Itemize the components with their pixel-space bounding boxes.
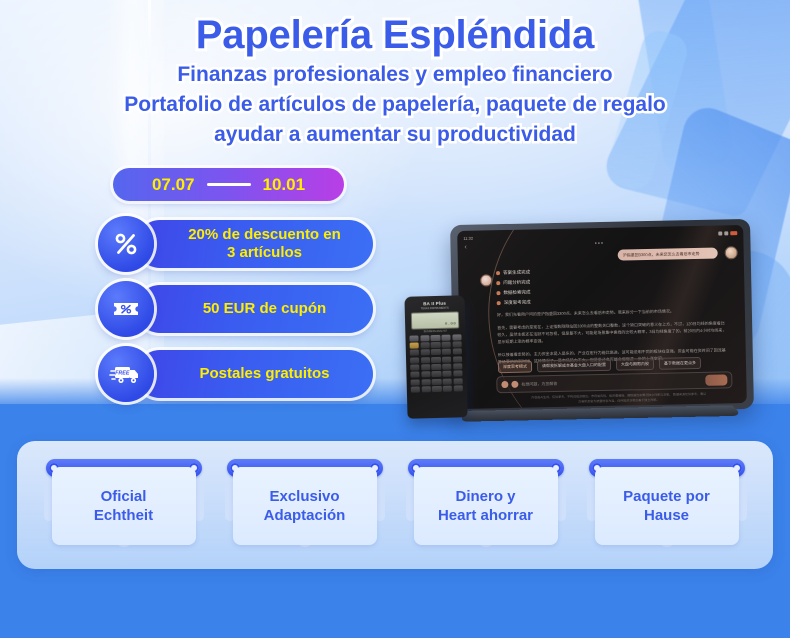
step-dot-icon — [497, 301, 501, 305]
percent-circle-icon — [98, 216, 154, 272]
promo-pill: 50 EUR de cupón — [136, 285, 373, 333]
calc-key[interactable] — [420, 349, 429, 355]
calculator-sub-label: BUSINESS ANALYST — [409, 329, 461, 333]
calc-key[interactable] — [453, 356, 462, 362]
step-dot-icon — [496, 281, 500, 285]
status-icons — [718, 231, 737, 235]
promo-banner: Papelería Espléndida Finanzas profesiona… — [0, 0, 790, 638]
calc-key[interactable] — [411, 379, 420, 385]
step-label: 数据检索完成 — [503, 289, 530, 296]
calc-key[interactable] — [442, 349, 451, 355]
calc-key[interactable] — [410, 372, 419, 378]
feature-label: Dinero y Heart ahorrar — [438, 487, 533, 525]
thread-step: 数据检索完成 — [496, 285, 726, 296]
user-message-bubble: 沪指重回3300点，未来您怎么去看后市走势 — [618, 248, 718, 261]
coupon-ticket-icon — [98, 281, 154, 337]
chat-input-placeholder: 有想问题，为您解答 — [521, 377, 702, 387]
calc-key[interactable] — [421, 372, 430, 378]
wifi-icon — [718, 231, 722, 235]
calc-key[interactable] — [431, 342, 440, 348]
date-separator-dash — [207, 183, 251, 186]
calc-key[interactable] — [442, 364, 451, 370]
back-chevron-icon[interactable]: ‹ — [464, 244, 466, 251]
card-body: Oficial Echtheit — [52, 467, 196, 545]
calc-key-second[interactable] — [410, 342, 419, 348]
calculator-display-value: 0.00 — [445, 322, 456, 326]
date-start: 07.07 — [152, 175, 195, 195]
calculator-keypad[interactable] — [409, 334, 462, 393]
send-button[interactable] — [705, 374, 727, 385]
calc-key[interactable] — [409, 335, 418, 341]
calc-key[interactable] — [410, 364, 419, 370]
chat-thread: 答案生成完成 问题分析完成 数据检索完成 深度思考完成 好，我们先看用户问的 — [496, 265, 728, 365]
calc-key[interactable] — [432, 379, 441, 385]
step-label: 问题分析完成 — [503, 279, 530, 286]
calc-key[interactable] — [442, 356, 451, 362]
attach-icon[interactable] — [501, 381, 508, 388]
calc-key[interactable] — [421, 386, 430, 392]
answer-paragraph: 首先，需要考虑的是现在，上证指数刚刚站回3300点的整数关口整数，这个缺口突破的… — [497, 319, 727, 345]
calc-key[interactable] — [432, 386, 441, 392]
calc-key[interactable] — [442, 371, 451, 377]
step-dot-icon — [496, 271, 500, 275]
chip-suggestion[interactable]: 大盘与期限内股 — [616, 358, 654, 371]
calc-key[interactable] — [421, 379, 430, 385]
calc-key[interactable] — [420, 342, 429, 348]
calc-key[interactable] — [411, 387, 420, 393]
promo-label: 20% de descuento en 3 artículos — [188, 226, 341, 261]
financial-calculator: BA II Plus TEXAS INSTRUMENTS 0.00 BUSINE… — [404, 295, 467, 419]
feature-panel: Oficial Echtheit Exclusivo Adaptación Di… — [17, 441, 773, 569]
calc-key[interactable] — [431, 357, 440, 363]
card-body: Exclusivo Adaptación — [233, 467, 377, 545]
calc-key[interactable] — [432, 364, 441, 370]
calc-key[interactable] — [453, 386, 462, 392]
calculator-maker: TEXAS INSTRUMENTS — [409, 306, 461, 310]
calc-key[interactable] — [442, 341, 451, 347]
promo-label: 50 EUR de cupón — [203, 300, 326, 318]
promo-pill: 20% de descuento en 3 artículos — [136, 220, 373, 268]
feature-card-exclusivo[interactable]: Exclusivo Adaptación — [221, 459, 389, 551]
feature-card-dinero[interactable]: Dinero y Heart ahorrar — [402, 459, 570, 551]
page-title: Papelería Espléndida — [0, 12, 790, 59]
calculator-display: 0.00 — [411, 311, 459, 329]
voice-icon[interactable] — [511, 381, 518, 388]
battery-icon — [730, 231, 737, 235]
tablet-device: 11:32 ‹ ••• 沪指重回3300点，未来您怎么去看后市走势 — [450, 219, 754, 415]
calc-key[interactable] — [443, 378, 452, 384]
status-time: 11:32 — [463, 236, 473, 241]
thread-step: 问题分析完成 — [496, 275, 726, 286]
answer-paragraph: 好，我们先看用户问的是沪指重回3300点，未来怎么去看后市走势。我来拆分一下当前… — [497, 306, 727, 318]
tablet-body: 11:32 ‹ ••• 沪指重回3300点，未来您怎么去看后市走势 — [450, 219, 754, 415]
promo-label: Postales gratuitos — [199, 365, 329, 383]
calc-key[interactable] — [452, 341, 461, 347]
promo-item-discount[interactable]: 20% de descuento en 3 artículos — [98, 216, 373, 272]
promo-item-coupon[interactable]: 50 EUR de cupón — [98, 281, 373, 337]
calc-key[interactable] — [453, 363, 462, 369]
feature-card-paquete[interactable]: Paquete por Hause — [583, 459, 751, 551]
header-subtitle-2: Portafolio de artículos de papelería, pa… — [0, 91, 790, 119]
card-body: Paquete por Hause — [595, 467, 739, 545]
feature-label: Exclusivo Adaptación — [264, 487, 346, 525]
calc-key[interactable] — [431, 349, 440, 355]
calc-key[interactable] — [452, 334, 461, 340]
calc-key[interactable] — [431, 334, 440, 340]
chip-suggestion[interactable]: 基于数据在更点多 — [659, 357, 701, 370]
header-subtitle-1: Finanzas profesionales y empleo financie… — [0, 61, 790, 89]
calc-key[interactable] — [410, 357, 419, 363]
chip-deep-think[interactable]: 深度思考模式 — [498, 360, 532, 373]
feature-card-oficial[interactable]: Oficial Echtheit — [40, 459, 208, 551]
thread-step: 深度思考完成 — [497, 295, 727, 306]
promo-pill: Postales gratuitos — [136, 350, 373, 398]
calc-key[interactable] — [443, 386, 452, 392]
calc-key[interactable] — [421, 364, 430, 370]
step-dot-icon — [496, 291, 500, 295]
promo-item-free-postcards[interactable]: Postales gratuitos FREE — [98, 346, 373, 402]
chip-suggestion[interactable]: 请帮我拆解成本基金大盘入口的配置 — [537, 359, 611, 373]
feature-label: Paquete por Hause — [623, 487, 710, 525]
calc-key[interactable] — [441, 334, 450, 340]
calc-key[interactable] — [421, 357, 430, 363]
step-label: 答案生成完成 — [503, 269, 530, 276]
date-end: 10.01 — [263, 175, 306, 195]
svg-text:FREE: FREE — [115, 370, 130, 376]
calc-key[interactable] — [420, 335, 429, 341]
calc-key[interactable] — [432, 371, 441, 377]
more-dots-icon[interactable]: ••• — [595, 241, 604, 247]
header-block: Papelería Espléndida Finanzas profesiona… — [0, 12, 790, 148]
step-label: 深度思考完成 — [504, 299, 531, 306]
calc-key[interactable] — [452, 349, 461, 355]
header-subtitle-3: ayudar a aumentar su productividad — [0, 121, 790, 149]
calc-key[interactable] — [453, 378, 462, 384]
tablet-screen: 11:32 ‹ ••• 沪指重回3300点，未来您怎么去看后市走势 — [457, 225, 747, 409]
feature-label: Oficial Echtheit — [94, 487, 153, 525]
promo-date-badge: 07.07 10.01 — [113, 168, 344, 201]
calc-key[interactable] — [453, 371, 462, 377]
card-body: Dinero y Heart ahorrar — [414, 467, 558, 545]
calc-key[interactable] — [410, 350, 419, 356]
signal-icon — [724, 231, 728, 235]
free-shipping-truck-icon: FREE — [98, 346, 154, 402]
